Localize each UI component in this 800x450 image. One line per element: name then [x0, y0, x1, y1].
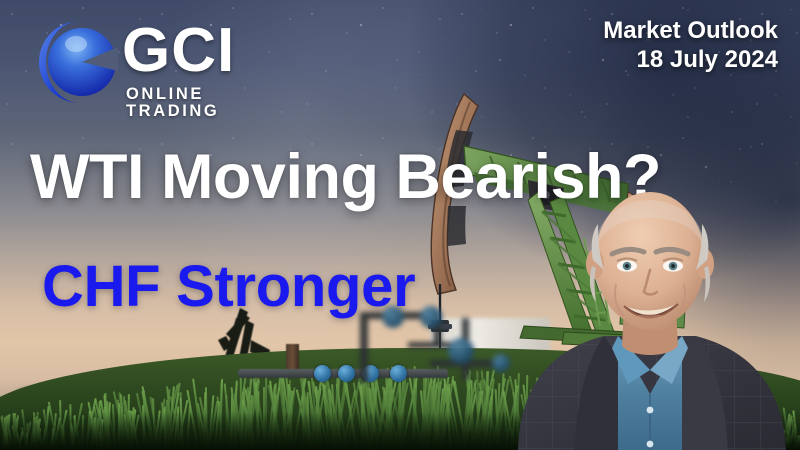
valve-wheel — [314, 365, 331, 382]
video-thumbnail: GCI ONLINE TRADING Market Outlook 18 Jul… — [0, 0, 800, 450]
gci-crescent-sphere-logo-icon — [30, 18, 118, 106]
market-outlook-label: Market Outlook 18 July 2024 — [603, 16, 778, 75]
page-subtitle: CHF Stronger — [42, 258, 415, 316]
small-tank — [286, 344, 299, 370]
gci-wordmark: GCI — [122, 20, 235, 82]
gci-logo[interactable]: GCI ONLINE TRADING — [30, 14, 280, 112]
market-outlook-date: 18 July 2024 — [603, 45, 778, 74]
gci-tagline: ONLINE TRADING — [126, 86, 280, 119]
market-outlook-line: Market Outlook — [603, 16, 778, 45]
presenter-portrait — [500, 188, 800, 450]
